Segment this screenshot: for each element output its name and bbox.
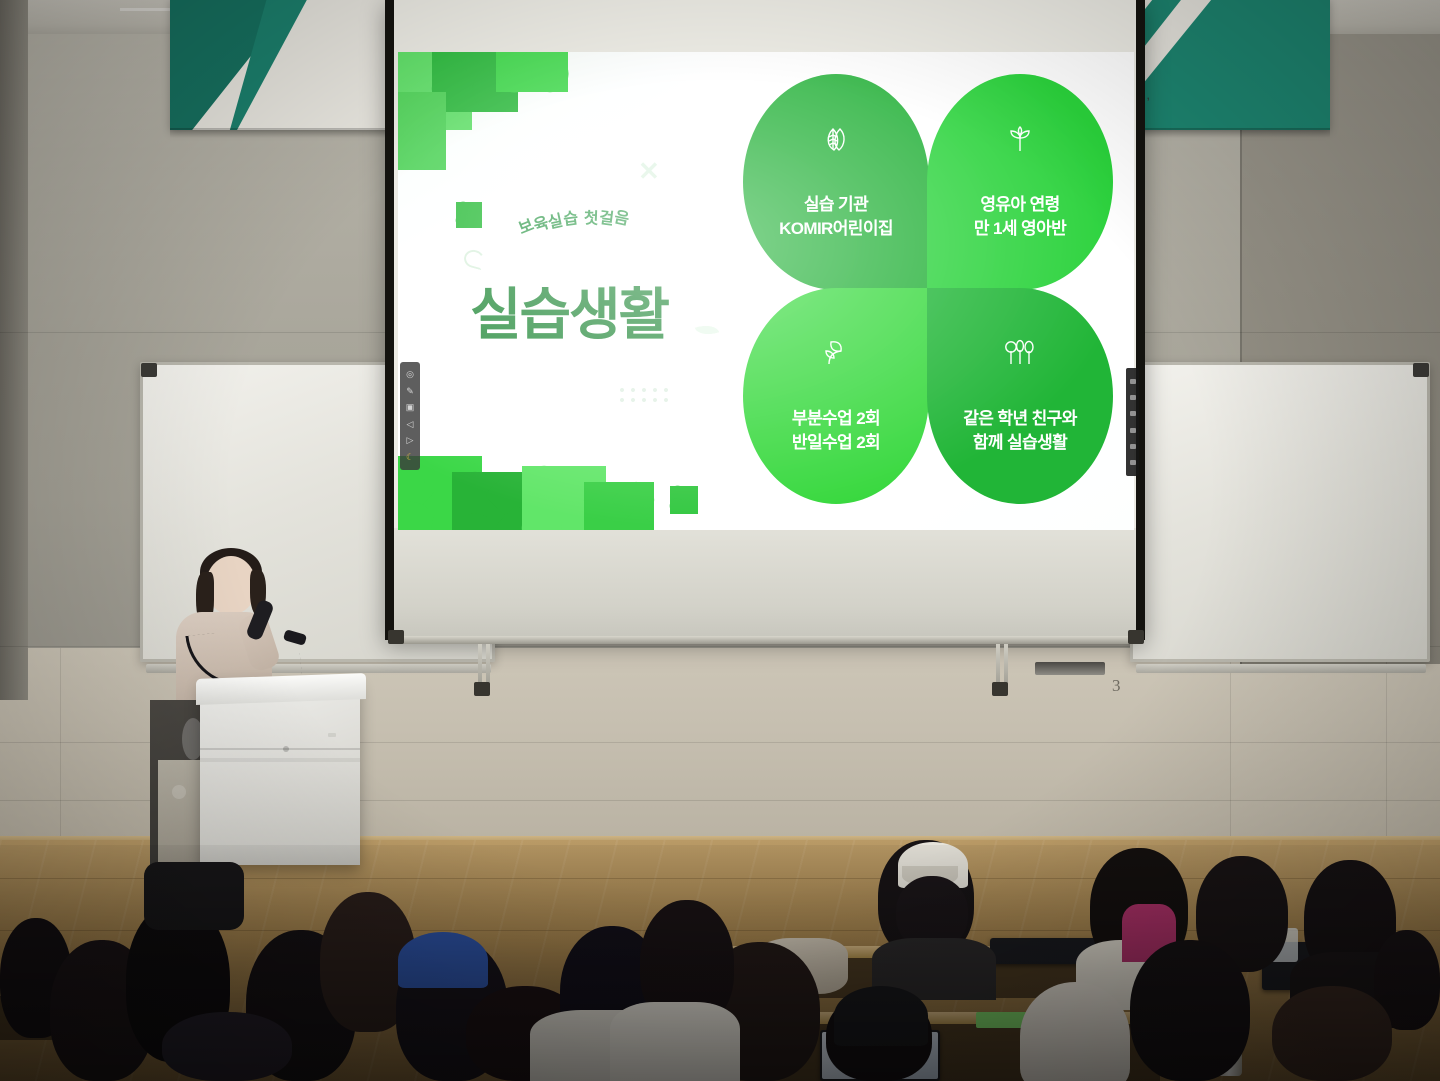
clover-decoration	[496, 52, 568, 92]
podium-seam	[200, 748, 360, 750]
swirl-icon	[462, 248, 486, 271]
petal-top-right: 영유아 연령 만 1세 영아반	[927, 74, 1113, 290]
wall-seam	[60, 648, 61, 843]
left-wall-shadow	[0, 0, 28, 700]
whiteboard-corner	[141, 363, 157, 377]
petal-line-1: 영유아 연령	[980, 193, 1059, 216]
screen-edge	[385, 0, 394, 640]
projected-slide: ✕ 보육실습 첫걸음 실습생활	[398, 52, 1134, 530]
audience-body	[610, 1002, 740, 1081]
wall-number-label: 3	[1112, 676, 1121, 696]
backpack	[144, 862, 244, 930]
screen-blank-area	[394, 528, 1136, 640]
petal-line-1: 부분수업 2회	[792, 407, 880, 430]
clover-decoration-small	[670, 486, 698, 514]
petal-line-1: 같은 학년 친구와	[963, 407, 1077, 430]
two-leaves-icon	[821, 124, 851, 159]
prev-arrow-icon[interactable]: ◁	[404, 418, 417, 431]
clover-decoration	[584, 482, 654, 530]
projection-screen: ✕ 보육실습 첫걸음 실습생활	[385, 0, 1145, 640]
podium-knob	[172, 785, 186, 799]
dot-grid-decoration	[620, 388, 675, 402]
three-trees-icon	[1004, 338, 1036, 373]
whiteboard-eraser[interactable]	[1035, 662, 1105, 675]
screen-leg	[1004, 644, 1008, 686]
podium-button[interactable]	[283, 746, 289, 752]
leaf-icon	[695, 321, 720, 339]
beanie	[834, 986, 928, 1046]
screen-foot	[1128, 630, 1144, 644]
whiteboard-tray-right	[1136, 664, 1426, 673]
slide-icon[interactable]: ▣	[404, 401, 417, 414]
petal-line-2: KOMIR어린이집	[779, 217, 893, 240]
screen-side-strip	[1126, 368, 1139, 476]
screen-foot	[388, 630, 404, 644]
whiteboard-corner	[1413, 363, 1429, 377]
screen-leg	[486, 644, 490, 686]
beanie	[398, 932, 488, 988]
podium-slot	[200, 758, 360, 762]
petal-line-1: 실습 기관	[804, 193, 868, 216]
whiteboard-right	[1130, 362, 1430, 662]
audience-head	[1130, 940, 1250, 1081]
screen-foot	[474, 682, 490, 696]
presentation-toolbar[interactable]: ◎ ✎ ▣ ◁ ▷ ☾	[400, 362, 420, 470]
audience-head	[1272, 986, 1392, 1081]
petal-line-2: 만 1세 영아반	[974, 217, 1066, 240]
screen-foot	[992, 682, 1008, 696]
menu-icon[interactable]: ☾	[404, 451, 417, 464]
clover-decoration-small	[456, 202, 482, 228]
lecture-hall-photo: 2024학년 일(화) W6 105호 책전문위원, 나 리아 상무	[0, 0, 1440, 1081]
petal-bottom-left: 부분수업 2회 반일수업 2회	[743, 288, 929, 504]
petal-bottom-right: 같은 학년 친구와 함께 실습생활	[927, 288, 1113, 504]
screen-leg	[478, 644, 482, 686]
pointer-icon[interactable]: ◎	[404, 368, 417, 381]
next-arrow-icon[interactable]: ▷	[404, 434, 417, 447]
audience-head	[162, 1012, 292, 1081]
pen-icon[interactable]: ✎	[404, 385, 417, 398]
screen-edge	[1136, 0, 1145, 640]
screen-support-rod	[400, 636, 1135, 644]
petal-line-2: 반일수업 2회	[792, 431, 880, 454]
wall-seam	[1230, 648, 1231, 843]
petal-line-2: 함께 실습생활	[973, 431, 1067, 454]
arch-char: 습	[562, 204, 581, 230]
audience-body	[1020, 982, 1130, 1081]
podium	[200, 680, 360, 865]
x-mark-icon: ✕	[638, 160, 660, 182]
clover-decoration	[398, 92, 446, 170]
slide-title: 실습생활	[470, 270, 668, 351]
podium-indicator	[328, 733, 336, 737]
screen-leg	[996, 644, 1000, 686]
clover-infographic: 실습 기관 KOMIR어린이집 영유아 연령 만 1세 영아반	[743, 74, 1113, 504]
slide-subtitle-arch: 보육실습 첫걸음	[515, 199, 632, 233]
leaf-sprout-icon	[821, 338, 851, 373]
petal-top-left: 실습 기관 KOMIR어린이집	[743, 74, 929, 290]
sprout-icon	[1005, 124, 1035, 159]
wall-seam	[1386, 648, 1387, 843]
